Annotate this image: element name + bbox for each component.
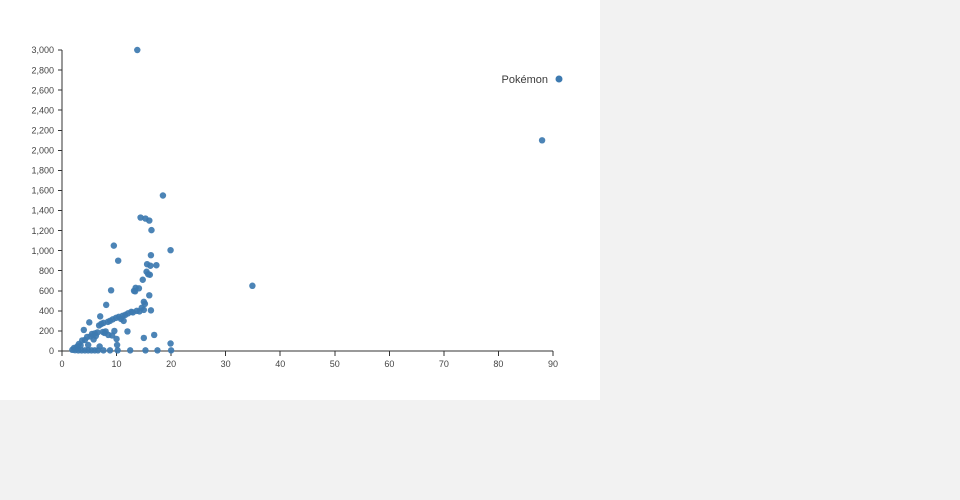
legend-marker-dot [556, 76, 563, 83]
data-point[interactable] [115, 257, 121, 263]
y-tick-label: 2,600 [31, 85, 54, 95]
screenshot-canvas: 02004006008001,0001,2001,4001,6001,8002,… [0, 0, 960, 500]
data-point[interactable] [111, 242, 117, 248]
data-point[interactable] [146, 217, 152, 223]
data-point[interactable] [97, 313, 103, 319]
y-tick-label: 2,200 [31, 125, 54, 135]
data-point[interactable] [146, 292, 152, 298]
data-point[interactable] [168, 347, 174, 353]
data-point[interactable] [124, 328, 130, 334]
data-point[interactable] [148, 227, 154, 233]
x-axis-ticks: 0102030405060708090 [59, 351, 558, 369]
y-tick-label: 1,000 [31, 246, 54, 256]
y-tick-label: 1,800 [31, 166, 54, 176]
legend-label: Pokémon [502, 74, 548, 86]
data-point[interactable] [160, 192, 166, 198]
x-tick-label: 70 [439, 359, 449, 369]
y-tick-label: 200 [39, 326, 54, 336]
x-tick-label: 90 [548, 359, 558, 369]
data-point[interactable] [153, 262, 159, 268]
scatter-plot[interactable]: 02004006008001,0001,2001,4001,6001,8002,… [0, 0, 600, 400]
data-point[interactable] [148, 307, 154, 313]
data-point[interactable] [134, 47, 140, 53]
y-tick-label: 1,200 [31, 226, 54, 236]
data-points-layer[interactable] [69, 47, 545, 354]
y-tick-label: 0 [49, 346, 54, 356]
x-tick-label: 0 [59, 359, 64, 369]
data-point[interactable] [96, 322, 102, 328]
y-tick-label: 1,600 [31, 186, 54, 196]
data-point[interactable] [539, 137, 545, 143]
y-tick-label: 2,400 [31, 105, 54, 115]
data-point[interactable] [107, 347, 113, 353]
data-point[interactable] [141, 335, 147, 341]
x-tick-label: 10 [112, 359, 122, 369]
data-point[interactable] [81, 327, 87, 333]
x-tick-label: 80 [493, 359, 503, 369]
x-tick-label: 30 [221, 359, 231, 369]
data-point[interactable] [147, 262, 153, 268]
x-tick-label: 40 [275, 359, 285, 369]
data-point[interactable] [142, 347, 148, 353]
data-point[interactable] [136, 308, 142, 314]
y-tick-label: 400 [39, 306, 54, 316]
data-point[interactable] [103, 302, 109, 308]
data-point[interactable] [147, 272, 153, 278]
y-tick-label: 2,800 [31, 65, 54, 75]
data-point[interactable] [86, 319, 92, 325]
data-point[interactable] [154, 347, 160, 353]
y-tick-label: 1,400 [31, 206, 54, 216]
data-point[interactable] [249, 283, 255, 289]
data-point[interactable] [127, 347, 133, 353]
data-point[interactable] [136, 285, 142, 291]
y-axis-ticks: 02004006008001,0001,2001,4001,6001,8002,… [31, 45, 62, 356]
data-point[interactable] [108, 287, 114, 293]
x-tick-label: 60 [384, 359, 394, 369]
x-tick-label: 20 [166, 359, 176, 369]
data-point[interactable] [151, 332, 157, 338]
data-point[interactable] [167, 340, 173, 346]
y-tick-label: 3,000 [31, 45, 54, 55]
y-tick-label: 2,000 [31, 146, 54, 156]
data-point[interactable] [114, 347, 120, 353]
data-point[interactable] [167, 247, 173, 253]
data-point[interactable] [90, 336, 96, 342]
y-tick-label: 800 [39, 266, 54, 276]
data-point[interactable] [148, 252, 154, 258]
x-tick-label: 50 [330, 359, 340, 369]
data-point[interactable] [100, 347, 106, 353]
y-tick-label: 600 [39, 286, 54, 296]
data-point[interactable] [140, 277, 146, 283]
chart-legend[interactable]: Pokémon [502, 74, 563, 86]
data-point[interactable] [120, 318, 126, 324]
data-point[interactable] [113, 336, 119, 342]
scatter-chart-card: 02004006008001,0001,2001,4001,6001,8002,… [0, 0, 600, 400]
